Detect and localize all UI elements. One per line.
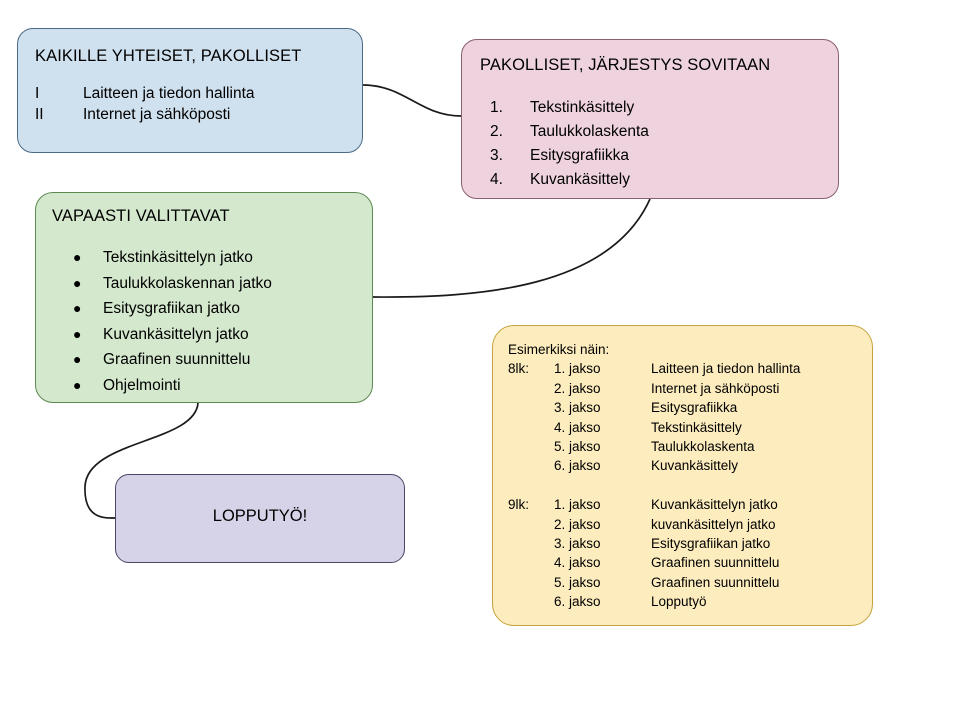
node-label: LOPPUTYÖ! [116,507,404,526]
list-item: ● Graafinen suunnittelu [73,347,272,373]
period-cell: 6. jakso [554,592,651,611]
bullet-icon: ● [73,245,103,271]
grade-cell [508,379,554,398]
course-cell: Esitysgrafiikan jatko [651,534,800,553]
table-row: 4. jakso Graafinen suunnittelu [508,553,800,572]
period-cell: 6. jakso [554,456,651,475]
list-item: 1. Tekstinkäsittely [490,96,649,120]
list-item: ● Ohjelmointi [73,373,272,399]
course-cell: Tekstinkäsittely [651,418,800,437]
grade-cell: 8lk: [508,359,554,378]
course-cell: Esitysgrafiikka [651,398,800,417]
table-row: 6. jakso Lopputyö [508,592,800,611]
example-schedule: Esimerkiksi näin: 8lk: 1. jakso Laitteen… [508,340,800,612]
bullet-icon: ● [73,373,103,399]
period-cell: 5. jakso [554,437,651,456]
numbered-list: 1. Tekstinkäsittely 2. Taulukkolaskenta … [490,96,649,192]
grade-cell: 9lk: [508,495,554,514]
period-cell: 2. jakso [554,379,651,398]
list-item-marker: I [35,83,83,104]
list-item-marker: 3. [490,144,530,168]
node-title: VAPAASTI VALITTAVAT [52,207,230,226]
list-item: ● Esitysgrafiikan jatko [73,296,272,322]
table-row: 4. jakso Tekstinkäsittely [508,418,800,437]
node-title: KAIKILLE YHTEISET, PAKOLLISET [35,47,301,66]
list-item-label: Tekstinkäsittely [530,96,634,120]
grade-cell [508,573,554,592]
course-cell: kuvankäsittelyn jatko [651,515,800,534]
list-item-label: Internet ja sähköposti [83,104,230,125]
period-cell: 1. jakso [554,495,651,514]
table-row: 3. jakso Esitysgrafiikan jatko [508,534,800,553]
list-item: ● Taulukkolaskennan jatko [73,271,272,297]
grade-cell [508,398,554,417]
course-cell: Taulukkolaskenta [651,437,800,456]
course-cell: Graafinen suunnittelu [651,553,800,572]
period-cell: 5. jakso [554,573,651,592]
table-row: 3. jakso Esitysgrafiikka [508,398,800,417]
table-row: 2. jakso Internet ja sähköposti [508,379,800,398]
node-esimerkki-nain[interactable]: Esimerkiksi näin: 8lk: 1. jakso Laitteen… [492,325,873,626]
list-item: 4. Kuvankäsittely [490,168,649,192]
grade-cell [508,456,554,475]
table-row: 8lk: 1. jakso Laitteen ja tiedon hallint… [508,359,800,378]
list-item: I Laitteen ja tiedon hallinta [35,83,255,104]
list-item-marker: 4. [490,168,530,192]
bullet-icon: ● [73,271,103,297]
list-item: ● Kuvankäsittelyn jatko [73,322,272,348]
table-row: 6. jakso Kuvankäsittely [508,456,800,475]
node-lopputyo[interactable]: LOPPUTYÖ! [115,474,405,563]
table-row: 5. jakso Graafinen suunnittelu [508,573,800,592]
grade-cell [508,534,554,553]
roman-numeral-list: I Laitteen ja tiedon hallinta II Interne… [35,83,255,125]
node-pakolliset-jarjestys-sovitaan[interactable]: PAKOLLISET, JÄRJESTYS SOVITAAN 1. Teksti… [461,39,839,199]
list-item-label: Laitteen ja tiedon hallinta [83,83,255,104]
list-item-label: Esitysgrafiikan jatko [103,296,240,322]
bullet-icon: ● [73,296,103,322]
list-item-label: Ohjelmointi [103,373,181,399]
connector-valittavat-to-jarjestys [373,199,650,297]
grade-cell [508,553,554,572]
period-cell: 3. jakso [554,534,651,553]
period-cell: 2. jakso [554,515,651,534]
course-cell: Internet ja sähköposti [651,379,800,398]
bullet-list: ● Tekstinkäsittelyn jatko ● Taulukkolask… [73,245,272,398]
course-cell: Graafinen suunnittelu [651,573,800,592]
period-cell: 1. jakso [554,359,651,378]
list-item-marker: II [35,104,83,125]
grade-cell [508,515,554,534]
list-item-marker: 2. [490,120,530,144]
list-item-label: Taulukkolaskenta [530,120,649,144]
period-cell: 4. jakso [554,553,651,572]
grade-cell [508,437,554,456]
grade-cell [508,592,554,611]
connector-yhteiset-to-jarjestys [363,85,461,116]
course-cell: Lopputyö [651,592,800,611]
list-item: 3. Esitysgrafiikka [490,144,649,168]
list-item-label: Kuvankäsittelyn jatko [103,322,249,348]
list-item: 2. Taulukkolaskenta [490,120,649,144]
period-cell: 3. jakso [554,398,651,417]
bullet-icon: ● [73,347,103,373]
list-item: ● Tekstinkäsittelyn jatko [73,245,272,271]
period-cell: 4. jakso [554,418,651,437]
list-item-label: Tekstinkäsittelyn jatko [103,245,253,271]
course-cell: Kuvankäsittely [651,456,800,475]
list-item-label: Graafinen suunnittelu [103,347,250,373]
table-row: 5. jakso Taulukkolaskenta [508,437,800,456]
table-row: 9lk: 1. jakso Kuvankäsittelyn jatko [508,495,800,514]
table-row: 2. jakso kuvankäsittelyn jatko [508,515,800,534]
course-cell: Kuvankäsittelyn jatko [651,495,800,514]
list-item-label: Kuvankäsittely [530,168,630,192]
list-item-marker: 1. [490,96,530,120]
list-item-label: Taulukkolaskennan jatko [103,271,272,297]
example-heading: Esimerkiksi näin: [508,340,800,359]
node-kaikille-yhteiset-pakolliset[interactable]: KAIKILLE YHTEISET, PAKOLLISET I Laitteen… [17,28,363,153]
node-title: PAKOLLISET, JÄRJESTYS SOVITAAN [480,56,770,75]
grade-cell [508,418,554,437]
list-item: II Internet ja sähköposti [35,104,255,125]
node-vapaasti-valittavat[interactable]: VAPAASTI VALITTAVAT ● Tekstinkäsittelyn … [35,192,373,403]
course-cell: Laitteen ja tiedon hallinta [651,359,800,378]
row-spacer [508,476,800,495]
list-item-label: Esitysgrafiikka [530,144,629,168]
bullet-icon: ● [73,322,103,348]
